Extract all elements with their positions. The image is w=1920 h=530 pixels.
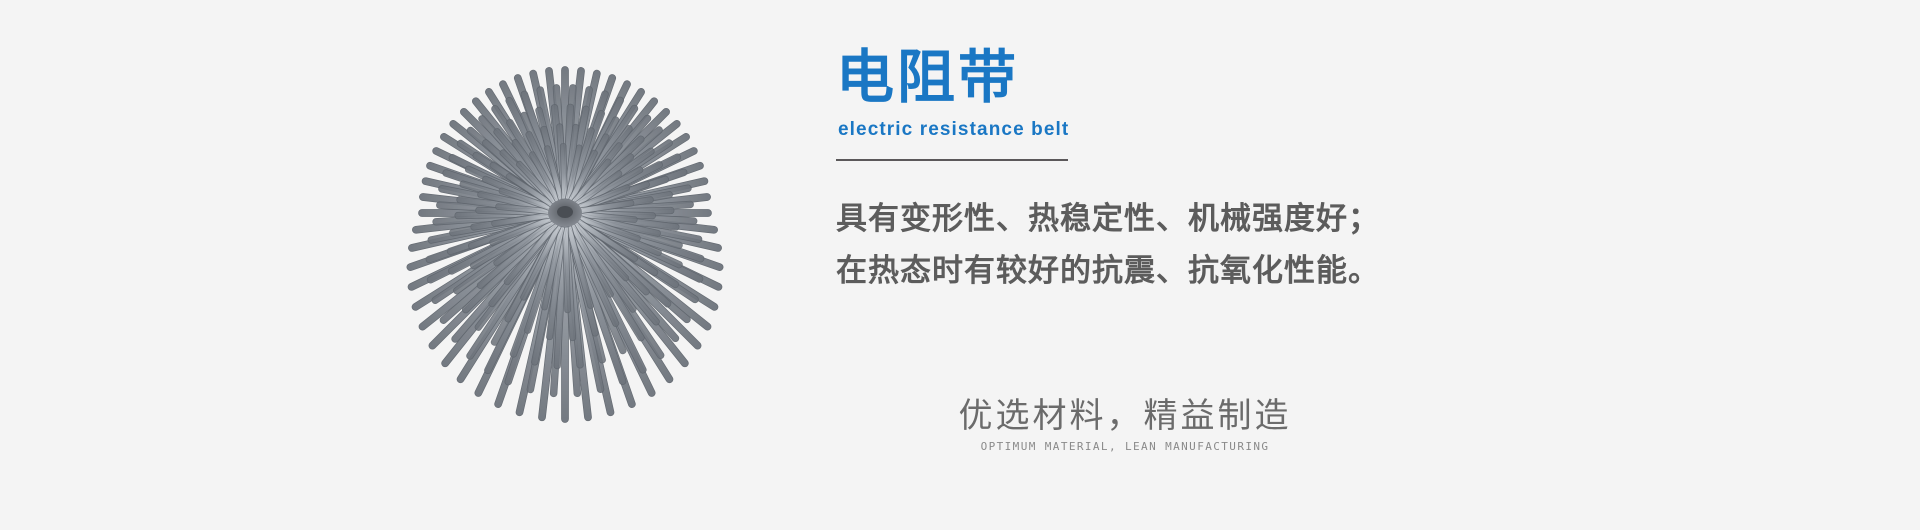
product-banner: 电阻带 electric resistance belt 具有变形性、热稳定性、…	[0, 0, 1920, 530]
body-copy: 具有变形性、热稳定性、机械强度好； 在热态时有较好的抗震、抗氧化性能。	[836, 193, 1736, 297]
tagline-block: 优选材料，精益制造 OPTIMUM MATERIAL, LEAN MANUFAC…	[950, 398, 1300, 453]
tagline-english: OPTIMUM MATERIAL, LEAN MANUFACTURING	[950, 440, 1300, 453]
body-line-1: 具有变形性、热稳定性、机械强度好；	[836, 193, 1736, 245]
page-title: 电阻带	[836, 46, 1736, 109]
tagline-chinese: 优选材料，精益制造	[950, 398, 1300, 435]
product-image	[355, 45, 775, 445]
resistance-belt-illustration	[355, 45, 775, 445]
title-divider	[836, 159, 1068, 161]
text-column: 电阻带 electric resistance belt 具有变形性、热稳定性、…	[836, 46, 1736, 297]
page-subtitle: electric resistance belt	[838, 119, 1736, 141]
body-line-2: 在热态时有较好的抗震、抗氧化性能。	[836, 245, 1736, 297]
